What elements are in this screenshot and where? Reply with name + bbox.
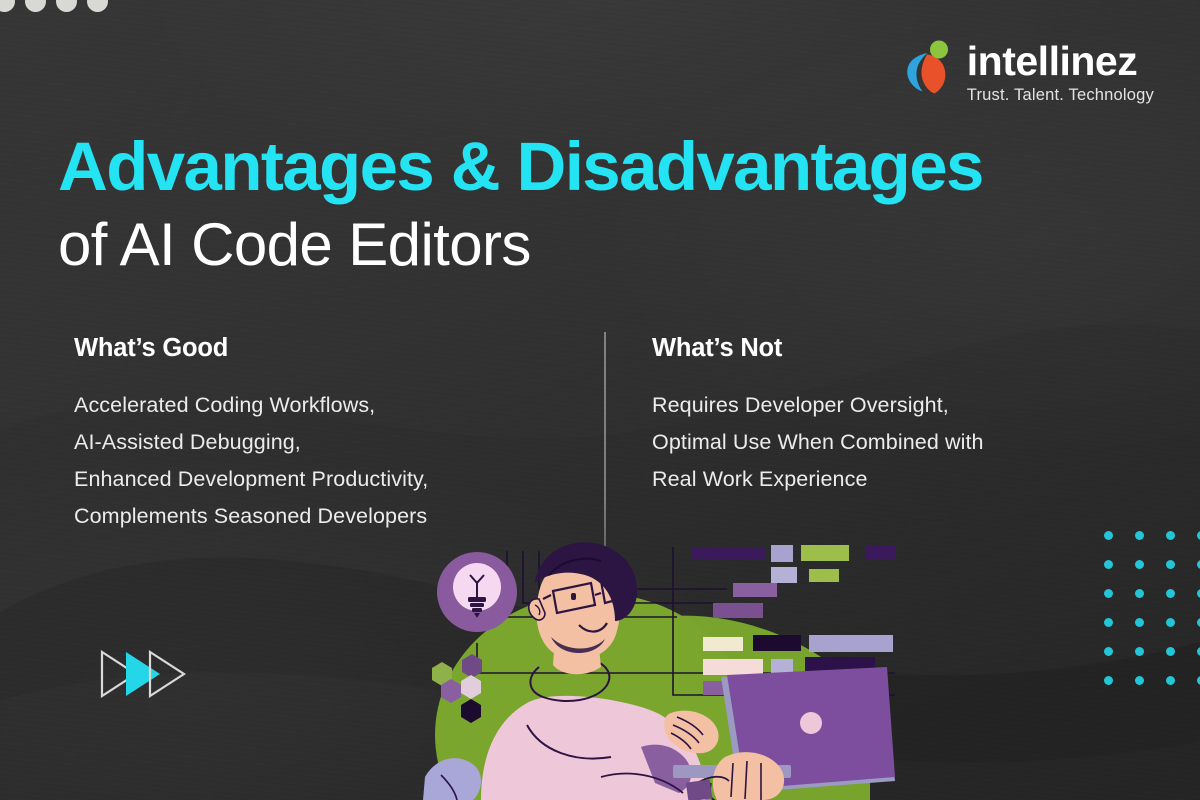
grid-dot bbox=[1166, 531, 1175, 540]
column-heading-not: What’s Not bbox=[652, 334, 1114, 363]
logo-wordmark: intellinez bbox=[967, 42, 1137, 81]
top-left-dot bbox=[87, 0, 108, 12]
eye-right bbox=[613, 585, 618, 592]
top-left-dot bbox=[56, 0, 77, 12]
grid-dot bbox=[1135, 618, 1144, 627]
grid-dot bbox=[1135, 647, 1144, 656]
grid-dot bbox=[1104, 560, 1113, 569]
column-whats-not: What’s Not Requires Developer Oversight,… bbox=[644, 334, 1114, 535]
lightbulb-badge bbox=[437, 552, 517, 632]
grid-dot bbox=[1135, 560, 1144, 569]
grid-dot bbox=[1104, 531, 1113, 540]
column-heading-good: What’s Good bbox=[74, 334, 644, 363]
list-item: Optimal Use When Combined with bbox=[652, 424, 1114, 461]
grid-dot bbox=[1135, 676, 1144, 685]
intellinez-logo-mark bbox=[903, 40, 957, 98]
laptop-logo-icon bbox=[800, 712, 822, 734]
top-left-dot bbox=[0, 0, 15, 12]
arrow-filled-icon bbox=[126, 652, 160, 696]
column-body-not: Requires Developer Oversight, Optimal Us… bbox=[652, 387, 1114, 498]
column-whats-good: What’s Good Accelerated Coding Workflows… bbox=[74, 334, 644, 535]
logo-text-block: intellinez Trust. Talent. Technology bbox=[967, 40, 1154, 105]
infographic-poster: intellinez Trust. Talent. Technology Adv… bbox=[0, 0, 1200, 800]
grid-dot bbox=[1135, 531, 1144, 540]
list-item: Accelerated Coding Workflows, bbox=[74, 387, 644, 424]
grid-dot bbox=[1104, 647, 1113, 656]
column-divider bbox=[604, 332, 606, 554]
top-left-dot bbox=[25, 0, 46, 12]
developer-at-laptop-illustration bbox=[415, 525, 895, 800]
column-body-good: Accelerated Coding Workflows, AI-Assiste… bbox=[74, 387, 644, 535]
list-item: Requires Developer Oversight, bbox=[652, 387, 1114, 424]
eye-left bbox=[571, 593, 576, 600]
cyan-dot-grid-decoration bbox=[1104, 531, 1200, 705]
fast-forward-arrows bbox=[100, 648, 192, 700]
grid-dot bbox=[1166, 647, 1175, 656]
headline-block: Advantages & Disadvantages of AI Code Ed… bbox=[58, 132, 1160, 278]
logo-tagline: Trust. Talent. Technology bbox=[967, 86, 1154, 105]
headline-line-1: Advantages & Disadvantages bbox=[58, 132, 1160, 201]
grid-dot bbox=[1104, 618, 1113, 627]
grid-dot bbox=[1166, 560, 1175, 569]
brand-logo[interactable]: intellinez Trust. Talent. Technology bbox=[903, 40, 1154, 105]
top-left-dots-decoration bbox=[0, 0, 108, 12]
grid-dot bbox=[1104, 589, 1113, 598]
grid-dot bbox=[1166, 589, 1175, 598]
list-item: AI-Assisted Debugging, bbox=[74, 424, 644, 461]
list-item: Enhanced Development Productivity, bbox=[74, 461, 644, 498]
grid-dot bbox=[1104, 676, 1113, 685]
grid-dot bbox=[1166, 676, 1175, 685]
headline-line-2: of AI Code Editors bbox=[58, 211, 1160, 278]
grid-dot bbox=[1135, 589, 1144, 598]
grid-dot bbox=[1166, 618, 1175, 627]
list-item: Real Work Experience bbox=[652, 461, 1114, 498]
